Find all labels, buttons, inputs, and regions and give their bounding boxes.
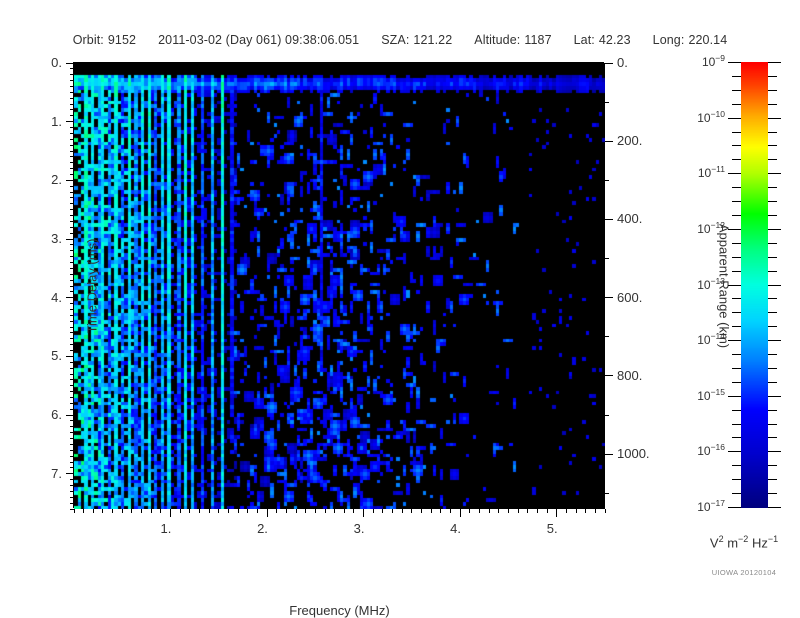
- y-major-tick: [66, 239, 74, 240]
- y-minor-tick: [70, 80, 74, 81]
- y-tick-label: 2.: [16, 172, 62, 187]
- y-minor-tick: [70, 280, 74, 281]
- y-minor-tick: [70, 250, 74, 251]
- y-minor-tick: [70, 368, 74, 369]
- x-minor-tick: [112, 509, 113, 513]
- y2-major-tick: [605, 375, 613, 376]
- colorbar-tick-label: 10−17: [675, 498, 725, 514]
- y-minor-tick: [70, 145, 74, 146]
- colorbar-units-label: V2 m−2 Hz−1: [694, 534, 794, 550]
- y-minor-tick: [70, 432, 74, 433]
- y-minor-tick: [70, 444, 74, 445]
- header-field: Lat:42.23: [574, 33, 631, 47]
- y-minor-tick: [70, 479, 74, 480]
- colorbar-minor-tick: [768, 271, 777, 272]
- colorbar-major-tick: [768, 507, 781, 508]
- y2-major-tick: [605, 141, 613, 142]
- y2-major-tick: [605, 454, 613, 455]
- colorbar-major-tick: [768, 62, 781, 63]
- colorbar-minor-tick: [732, 132, 741, 133]
- x-minor-tick: [209, 509, 210, 513]
- colorbar-minor-tick: [732, 493, 741, 494]
- colorbar-minor-tick: [768, 257, 777, 258]
- colorbar-tick-label: 10−15: [675, 387, 725, 403]
- header-field: Long:220.14: [653, 33, 728, 47]
- x-minor-tick: [431, 509, 432, 513]
- x-tick-label: 3.: [354, 521, 365, 536]
- colorbar-minor-tick: [768, 298, 777, 299]
- colorbar-minor-tick: [732, 298, 741, 299]
- colorbar-minor-tick: [768, 326, 777, 327]
- y2-tick-label: 800.: [617, 368, 642, 383]
- y-minor-tick: [70, 409, 74, 410]
- y-minor-tick: [70, 215, 74, 216]
- colorbar-minor-tick: [768, 312, 777, 313]
- y-tick-label: 3.: [16, 231, 62, 246]
- y-minor-tick: [70, 397, 74, 398]
- y-minor-tick: [70, 262, 74, 263]
- colorbar-minor-tick: [768, 368, 777, 369]
- y-minor-tick: [70, 315, 74, 316]
- y-tick-label: 5.: [16, 348, 62, 363]
- x-minor-tick: [421, 509, 422, 513]
- y-minor-tick: [70, 391, 74, 392]
- y-minor-tick: [70, 192, 74, 193]
- y2-major-tick: [605, 63, 613, 64]
- y2-minor-tick: [605, 258, 609, 259]
- header-field-key: Lat:: [574, 33, 595, 47]
- y-minor-tick: [70, 379, 74, 380]
- y-minor-tick: [70, 274, 74, 275]
- y-minor-tick: [70, 491, 74, 492]
- y-minor-tick: [70, 438, 74, 439]
- x-minor-tick: [276, 509, 277, 513]
- colorbar-minor-tick: [732, 76, 741, 77]
- x-minor-tick: [199, 509, 200, 513]
- header-field-value: 9152: [108, 33, 136, 47]
- y-minor-tick: [70, 127, 74, 128]
- y-minor-tick: [70, 209, 74, 210]
- colorbar-minor-tick: [732, 354, 741, 355]
- x-minor-tick: [479, 509, 480, 513]
- y-minor-tick: [70, 327, 74, 328]
- x-minor-tick: [373, 509, 374, 513]
- colorbar-minor-tick: [768, 215, 777, 216]
- y-major-tick: [66, 63, 74, 64]
- colorbar-tick-label: 10−12: [675, 220, 725, 236]
- ionogram-plot-area: 1.2.3.4.5. 0.1.2.3.4.5.6.7. 0.200.400.60…: [73, 62, 604, 508]
- y-minor-tick: [70, 74, 74, 75]
- y-minor-tick: [70, 450, 74, 451]
- colorbar-major-tick: [768, 229, 781, 230]
- x-minor-tick: [440, 509, 441, 513]
- x-minor-tick: [238, 509, 239, 513]
- y2-minor-tick: [605, 180, 609, 181]
- x-major-tick: [363, 509, 364, 517]
- x-minor-tick: [296, 509, 297, 513]
- x-tick-label: 4.: [450, 521, 461, 536]
- colorbar-minor-tick: [732, 145, 741, 146]
- colorbar-minor-tick: [768, 465, 777, 466]
- colorbar-minor-tick: [732, 424, 741, 425]
- header-field-value: 1187: [524, 33, 551, 47]
- x-tick-label: 5.: [547, 521, 558, 536]
- y-minor-tick: [70, 503, 74, 504]
- colorbar-minor-tick: [732, 368, 741, 369]
- x-minor-tick: [305, 509, 306, 513]
- colorbar-tick-label: 10−14: [675, 331, 725, 347]
- y-minor-tick: [70, 139, 74, 140]
- header-field-key: Altitude:: [474, 33, 520, 47]
- y-minor-tick: [70, 98, 74, 99]
- y-minor-tick: [70, 256, 74, 257]
- y-minor-tick: [70, 268, 74, 269]
- header-field-value: 2011-03-02 (Day 061) 09:38:06.051: [158, 33, 359, 47]
- x-minor-tick: [595, 509, 596, 513]
- header-field-key: Long:: [653, 33, 685, 47]
- colorbar-major-tick: [768, 118, 781, 119]
- header-field-key: Orbit:: [73, 33, 104, 47]
- x-minor-tick: [344, 509, 345, 513]
- y-minor-tick: [70, 174, 74, 175]
- colorbar-minor-tick: [768, 132, 777, 133]
- x-minor-tick: [102, 509, 103, 513]
- y-minor-tick: [70, 344, 74, 345]
- colorbar-minor-tick: [768, 382, 777, 383]
- colorbar-minor-tick: [732, 201, 741, 202]
- y2-tick-label: 1000.: [617, 446, 650, 461]
- colorbar-major-tick: [728, 118, 741, 119]
- y-major-tick: [66, 356, 74, 357]
- x-minor-tick: [93, 509, 94, 513]
- colorbar-minor-tick: [732, 90, 741, 91]
- colorbar-tick-label: 10−9: [675, 53, 725, 69]
- y2-minor-tick: [605, 493, 609, 494]
- y-minor-tick: [70, 86, 74, 87]
- x-minor-tick: [228, 509, 229, 513]
- y-major-tick: [66, 297, 74, 298]
- colorbar-minor-tick: [732, 437, 741, 438]
- colorbar-minor-tick: [732, 410, 741, 411]
- y-minor-tick: [70, 109, 74, 110]
- y-minor-tick: [70, 309, 74, 310]
- y-minor-tick: [70, 286, 74, 287]
- x-minor-tick: [247, 509, 248, 513]
- y2-minor-tick: [605, 415, 609, 416]
- colorbar-minor-tick: [732, 187, 741, 188]
- y-minor-tick: [70, 362, 74, 363]
- x-minor-tick: [141, 509, 142, 513]
- y2-minor-tick: [605, 102, 609, 103]
- x-minor-tick: [325, 509, 326, 513]
- colorbar-minor-tick: [732, 326, 741, 327]
- colorbar-major-tick: [728, 340, 741, 341]
- y-minor-tick: [70, 227, 74, 228]
- header-field-value: 42.23: [599, 33, 631, 47]
- x-minor-tick: [286, 509, 287, 513]
- x-minor-tick: [411, 509, 412, 513]
- colorbar-major-tick: [728, 507, 741, 508]
- y-minor-tick: [70, 221, 74, 222]
- x-axis-title: Frequency (MHz): [74, 603, 605, 618]
- colorbar-minor-tick: [768, 437, 777, 438]
- ionogram-header: Orbit:91522011-03-02 (Day 061) 09:38:06.…: [0, 30, 800, 50]
- colorbar-tick-label: 10−16: [675, 442, 725, 458]
- colorbar-minor-tick: [768, 493, 777, 494]
- colorbar-minor-tick: [768, 479, 777, 480]
- y-major-tick: [66, 415, 74, 416]
- y-tick-label: 4.: [16, 290, 62, 305]
- y2-major-tick: [605, 219, 613, 220]
- colorbar-minor-tick: [732, 271, 741, 272]
- y-minor-tick: [70, 467, 74, 468]
- y-minor-tick: [70, 350, 74, 351]
- x-minor-tick: [605, 509, 606, 513]
- colorbar-minor-tick: [768, 187, 777, 188]
- y-minor-tick: [70, 151, 74, 152]
- colorbar-minor-tick: [768, 201, 777, 202]
- x-minor-tick: [585, 509, 586, 513]
- colorbar-major-tick: [768, 451, 781, 452]
- colorbar-minor-tick: [732, 465, 741, 466]
- x-minor-tick: [382, 509, 383, 513]
- y-major-tick: [66, 180, 74, 181]
- y-minor-tick: [70, 321, 74, 322]
- x-minor-tick: [518, 509, 519, 513]
- colorbar-major-tick: [768, 285, 781, 286]
- y-axis-title: Time Delay (ms): [85, 206, 100, 366]
- x-minor-tick: [508, 509, 509, 513]
- x-minor-tick: [180, 509, 181, 513]
- y-tick-label: 6.: [16, 407, 62, 422]
- x-major-tick: [170, 509, 171, 517]
- x-minor-tick: [189, 509, 190, 513]
- header-field: SZA:121.22: [381, 33, 452, 47]
- x-minor-tick: [527, 509, 528, 513]
- spectrogram-image: [74, 63, 605, 509]
- y-minor-tick: [70, 203, 74, 204]
- y-tick-label: 7.: [16, 466, 62, 481]
- colorbar-major-tick: [768, 396, 781, 397]
- colorbar-major-tick: [728, 62, 741, 63]
- x-minor-tick: [392, 509, 393, 513]
- y-minor-tick: [70, 68, 74, 69]
- colorbar-tick-label: 10−10: [675, 109, 725, 125]
- header-field: Altitude:1187: [474, 33, 551, 47]
- y-minor-tick: [70, 162, 74, 163]
- x-minor-tick: [74, 509, 75, 513]
- y-minor-tick: [70, 92, 74, 93]
- header-field-key: SZA:: [381, 33, 409, 47]
- x-minor-tick: [402, 509, 403, 513]
- y-minor-tick: [70, 456, 74, 457]
- colorbar-minor-tick: [732, 479, 741, 480]
- x-minor-tick: [450, 509, 451, 513]
- x-major-tick: [267, 509, 268, 517]
- header-field: 2011-03-02 (Day 061) 09:38:06.051: [158, 33, 359, 47]
- x-minor-tick: [160, 509, 161, 513]
- colorbar-minor-tick: [768, 104, 777, 105]
- colorbar-minor-tick: [768, 159, 777, 160]
- header-field: Orbit:9152: [73, 33, 136, 47]
- x-minor-tick: [537, 509, 538, 513]
- colorbar-minor-tick: [732, 312, 741, 313]
- colorbar-minor-tick: [768, 410, 777, 411]
- x-minor-tick: [576, 509, 577, 513]
- x-minor-tick: [469, 509, 470, 513]
- y-minor-tick: [70, 509, 74, 510]
- y2-tick-label: 400.: [617, 211, 642, 226]
- y-major-tick: [66, 473, 74, 474]
- y-minor-tick: [70, 115, 74, 116]
- colorbar-major-tick: [728, 451, 741, 452]
- colorbar-major-tick: [728, 229, 741, 230]
- y-minor-tick: [70, 197, 74, 198]
- y-minor-tick: [70, 156, 74, 157]
- y-minor-tick: [70, 303, 74, 304]
- y2-major-tick: [605, 297, 613, 298]
- colorbar-minor-tick: [768, 145, 777, 146]
- colorbar-major-tick: [768, 340, 781, 341]
- colorbar-gradient: [741, 62, 768, 508]
- colorbar-minor-tick: [732, 159, 741, 160]
- y-minor-tick: [70, 233, 74, 234]
- y-minor-tick: [70, 133, 74, 134]
- x-minor-tick: [547, 509, 548, 513]
- credit-label: UIOWA 20120104: [694, 568, 794, 577]
- x-minor-tick: [334, 509, 335, 513]
- colorbar-minor-tick: [732, 243, 741, 244]
- x-minor-tick: [131, 509, 132, 513]
- y-minor-tick: [70, 485, 74, 486]
- y-minor-tick: [70, 385, 74, 386]
- y-minor-tick: [70, 420, 74, 421]
- colorbar-minor-tick: [732, 215, 741, 216]
- header-field-value: 220.14: [688, 33, 727, 47]
- x-minor-tick: [315, 509, 316, 513]
- colorbar-minor-tick: [768, 76, 777, 77]
- y-minor-tick: [70, 403, 74, 404]
- y-minor-tick: [70, 104, 74, 105]
- y-minor-tick: [70, 244, 74, 245]
- x-minor-tick: [122, 509, 123, 513]
- y-tick-label: 0.: [16, 55, 62, 70]
- y-minor-tick: [70, 374, 74, 375]
- x-minor-tick: [566, 509, 567, 513]
- y-major-tick: [66, 121, 74, 122]
- x-major-tick: [556, 509, 557, 517]
- y2-tick-label: 0.: [617, 55, 628, 70]
- x-minor-tick: [353, 509, 354, 513]
- colorbar-minor-tick: [768, 243, 777, 244]
- colorbar-major-tick: [728, 173, 741, 174]
- colorbar-minor-tick: [768, 354, 777, 355]
- y-tick-label: 1.: [16, 114, 62, 129]
- x-minor-tick: [151, 509, 152, 513]
- y2-minor-tick: [605, 336, 609, 337]
- y-minor-tick: [70, 168, 74, 169]
- x-tick-label: 2.: [257, 521, 268, 536]
- x-minor-tick: [489, 509, 490, 513]
- colorbar-tick-label: 10−13: [675, 276, 725, 292]
- header-field-value: 121.22: [413, 33, 452, 47]
- x-minor-tick: [218, 509, 219, 513]
- y-minor-tick: [70, 462, 74, 463]
- y-minor-tick: [70, 332, 74, 333]
- colorbar-minor-tick: [768, 424, 777, 425]
- y-minor-tick: [70, 186, 74, 187]
- colorbar-major-tick: [728, 285, 741, 286]
- colorbar-minor-tick: [768, 90, 777, 91]
- colorbar-tick-label: 10−11: [675, 164, 725, 180]
- x-major-tick: [460, 509, 461, 517]
- colorbar: 10−910−1010−1110−1210−1310−1410−1510−161…: [741, 62, 768, 508]
- y2-tick-label: 600.: [617, 290, 642, 305]
- y-minor-tick: [70, 291, 74, 292]
- x-minor-tick: [498, 509, 499, 513]
- colorbar-minor-tick: [732, 257, 741, 258]
- x-tick-label: 1.: [161, 521, 172, 536]
- y-minor-tick: [70, 338, 74, 339]
- x-minor-tick: [257, 509, 258, 513]
- colorbar-major-tick: [768, 173, 781, 174]
- y-minor-tick: [70, 426, 74, 427]
- colorbar-minor-tick: [732, 382, 741, 383]
- x-minor-tick: [83, 509, 84, 513]
- colorbar-minor-tick: [732, 104, 741, 105]
- colorbar-major-tick: [728, 396, 741, 397]
- y-minor-tick: [70, 497, 74, 498]
- y2-tick-label: 200.: [617, 133, 642, 148]
